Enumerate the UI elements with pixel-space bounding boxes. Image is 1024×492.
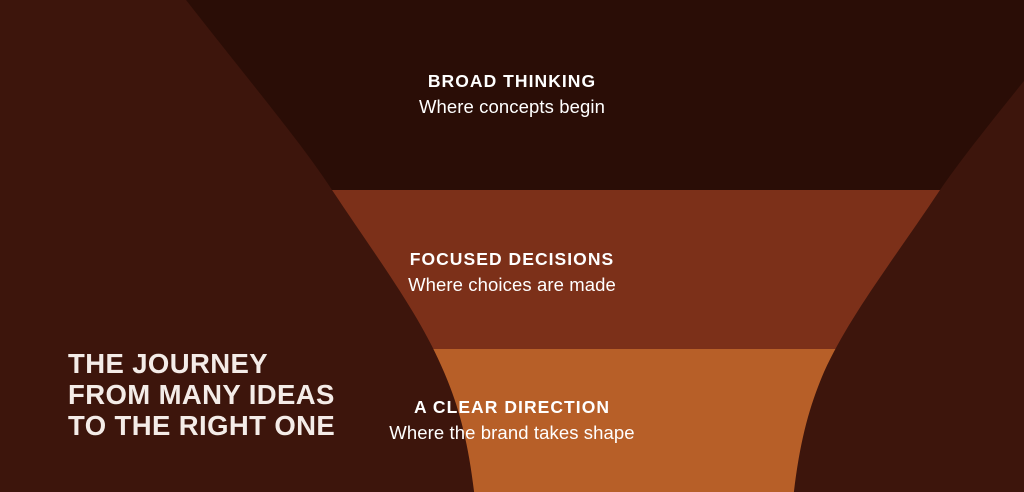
funnel-graphic — [0, 0, 1024, 492]
infographic-canvas: THE JOURNEY FROM MANY IDEAS TO THE RIGHT… — [0, 0, 1024, 492]
funnel-band-clear-direction — [0, 349, 1024, 492]
funnel-band-focused-decisions — [0, 190, 1024, 349]
funnel-band-broad-thinking — [0, 0, 1024, 190]
